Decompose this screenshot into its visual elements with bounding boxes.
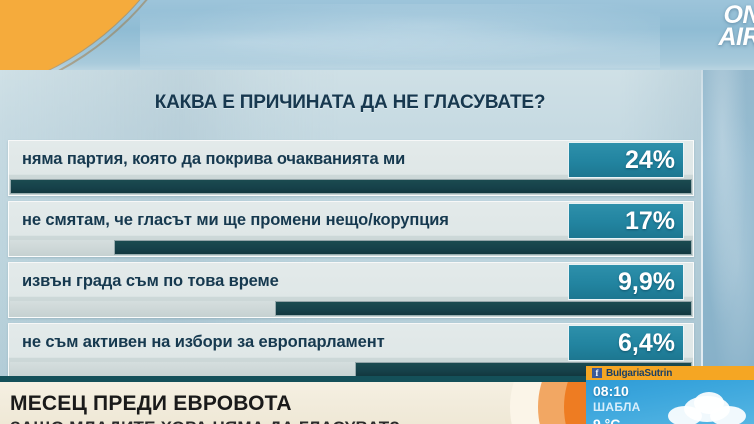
poll-row: извън града съм по това време9,9%	[8, 262, 694, 322]
poll-row-percentage: 9,9%	[568, 264, 684, 300]
right-background-pane	[701, 70, 754, 380]
poll-row-track	[10, 301, 692, 316]
weather-time: 08:10	[593, 383, 629, 399]
poll-row-track	[10, 179, 692, 194]
poll-row: няма партия, която да покрива очакваният…	[8, 140, 694, 200]
on-air-logo: ON AIR	[718, 4, 754, 48]
weather-city: ШАБЛА	[593, 400, 641, 414]
cloud-icon	[666, 382, 750, 424]
poll-row-percentage: 24%	[568, 142, 684, 178]
poll-row-label: извън града съм по това време	[22, 262, 279, 300]
poll-row: не смятам, че гласът ми ще промени нещо/…	[8, 201, 694, 261]
weather-widget: 08:10 ШАБЛА 9 °C	[586, 380, 754, 424]
facebook-icon: f	[592, 368, 602, 378]
poll-row-track	[10, 240, 692, 255]
poll-row-percentage: 17%	[568, 203, 684, 239]
poll-row-percentage: 6,4%	[568, 325, 684, 361]
poll-row-bar-fill	[114, 240, 692, 255]
lower-third-title: МЕСЕЦ ПРЕДИ ЕВРОВОТА	[10, 392, 292, 416]
poll-row-bar-fill	[275, 301, 692, 316]
clouds-decoration	[140, 4, 660, 68]
poll-row-label: няма партия, която да покрива очакваният…	[22, 140, 405, 178]
chart-title: КАКВА Е ПРИЧИНАТА ДА НЕ ГЛАСУВАТЕ?	[0, 92, 700, 114]
right-pane-texture	[701, 70, 754, 380]
poll-row-bar-fill	[10, 179, 692, 194]
facebook-handle-text: BulgariaSutrin	[606, 368, 672, 379]
on-air-line-2: AIR	[718, 26, 754, 48]
facebook-handle-badge: f BulgariaSutrin	[586, 366, 754, 380]
poll-bar-chart: няма партия, която да покрива очакваният…	[8, 140, 694, 384]
poll-row-label: не съм активен на избори за европарламен…	[22, 323, 385, 361]
weather-temperature: 9 °C	[593, 416, 620, 424]
poll-row-label: не смятам, че гласът ми ще промени нещо/…	[22, 201, 449, 239]
lower-third-subtitle: ЗАЩО МЛАДИТЕ ХОРА НЯМА ДА ГЛАСУВАТ?	[10, 418, 400, 424]
